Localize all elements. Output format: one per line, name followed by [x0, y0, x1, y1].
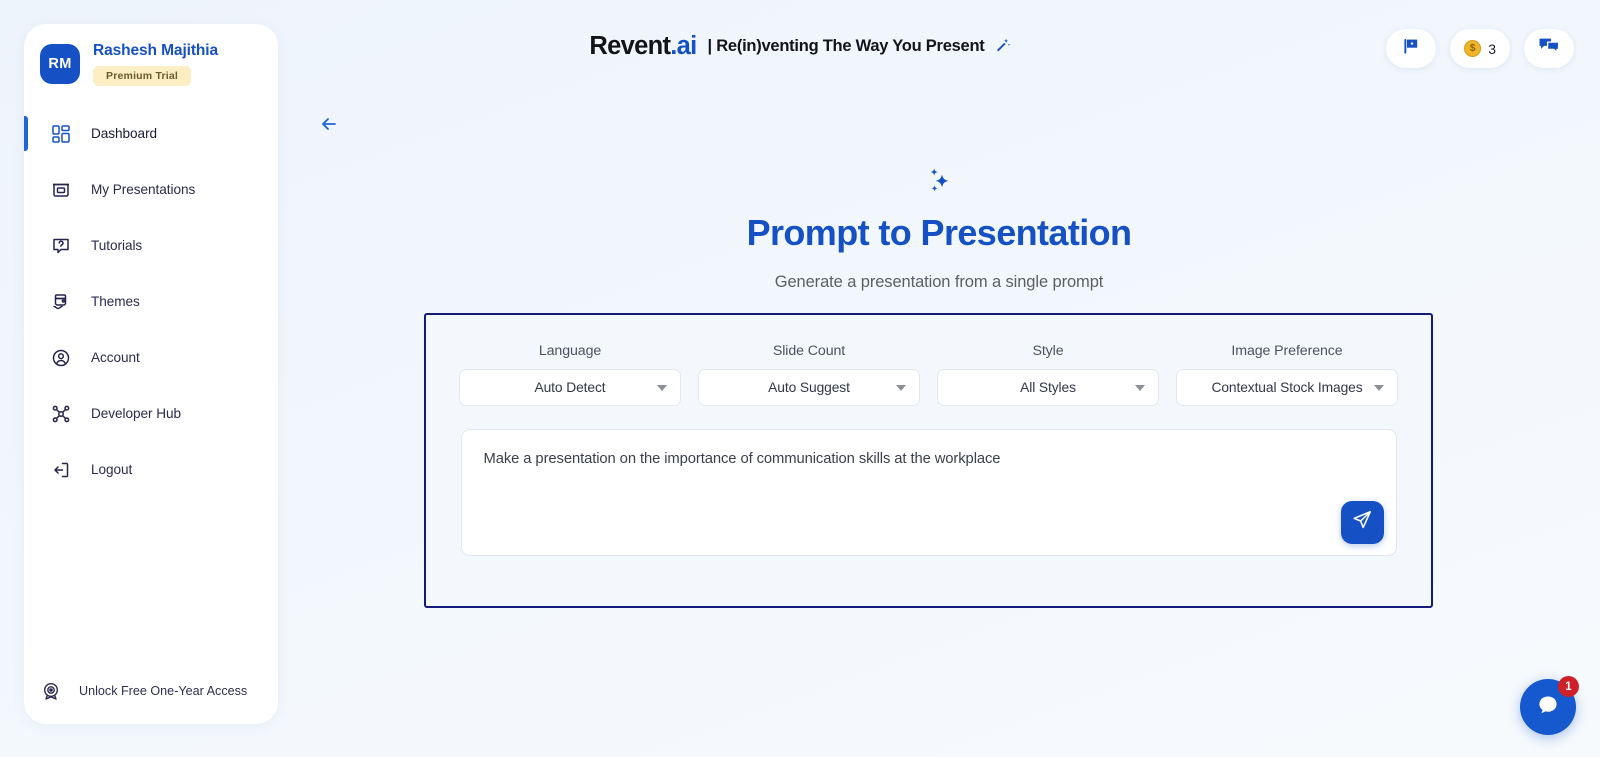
send-plane-icon [1351, 509, 1373, 536]
unlock-label: Unlock Free One-Year Access [79, 684, 247, 698]
credits-button[interactable]: $ 3 [1450, 29, 1510, 68]
prompt-card: Language Auto Detect Slide Count Auto Su… [424, 313, 1433, 608]
option-label: Language [459, 343, 681, 359]
page-title: Prompt to Presentation [278, 212, 1600, 254]
option-slide-count: Slide Count Auto Suggest [698, 343, 920, 406]
sidebar-item-label: Logout [91, 462, 132, 477]
chevron-down-icon [657, 385, 667, 391]
option-image-preference: Image Preference Contextual Stock Images [1176, 343, 1398, 406]
dashboard-icon [50, 123, 72, 145]
sidebar-item-tutorials[interactable]: Tutorials [24, 226, 278, 265]
option-label: Slide Count [698, 343, 920, 359]
avatar: RM [40, 44, 80, 84]
user-name: Rashesh Majithia [93, 42, 218, 60]
hero-section: Prompt to Presentation Generate a presen… [278, 160, 1600, 292]
flag-button[interactable] [1386, 29, 1436, 68]
sidebar-item-label: Account [91, 350, 140, 365]
sidebar-item-label: Themes [91, 294, 140, 309]
send-button[interactable] [1341, 501, 1384, 544]
page-subtitle: Generate a presentation from a single pr… [278, 273, 1600, 292]
sidebar-nav: Dashboard My Presentations [24, 114, 278, 489]
select-value: All Styles [1020, 380, 1076, 395]
nodes-icon [50, 403, 72, 425]
coin-icon: $ [1464, 40, 1481, 57]
sidebar-item-label: Dashboard [91, 126, 157, 141]
back-button[interactable] [313, 110, 345, 142]
sidebar-item-label: Tutorials [91, 238, 142, 253]
image-preference-select[interactable]: Contextual Stock Images [1176, 369, 1398, 406]
question-bubble-icon [50, 235, 72, 257]
sidebar-item-logout[interactable]: Logout [24, 450, 278, 489]
unlock-free-access-link[interactable]: Unlock Free One-Year Access [24, 680, 247, 702]
target-badge-icon [40, 680, 62, 702]
presentation-icon [50, 179, 72, 201]
sidebar-item-label: My Presentations [91, 182, 195, 197]
logo-suffix: .ai [670, 32, 696, 60]
sidebar-item-label: Developer Hub [91, 406, 181, 421]
paint-bucket-icon [50, 291, 72, 313]
top-actions: $ 3 [1386, 29, 1574, 68]
chat-bubbles-icon [1538, 36, 1560, 61]
chevron-down-icon [896, 385, 906, 391]
slide-count-select[interactable]: Auto Suggest [698, 369, 920, 406]
app-root: RM Rashesh Majithia Premium Trial Dashbo… [0, 0, 1600, 757]
option-style: Style All Styles [937, 343, 1159, 406]
sidebar-item-themes[interactable]: Themes [24, 282, 278, 321]
sidebar-item-developer-hub[interactable]: Developer Hub [24, 394, 278, 433]
sidebar-item-account[interactable]: Account [24, 338, 278, 377]
credits-count: 3 [1488, 41, 1496, 57]
sidebar-item-dashboard[interactable]: Dashboard [24, 114, 278, 153]
option-label: Image Preference [1176, 343, 1398, 359]
logo-main: Revent [589, 32, 670, 60]
language-select[interactable]: Auto Detect [459, 369, 681, 406]
chat-widget-button[interactable]: 1 [1520, 679, 1576, 735]
user-profile[interactable]: RM Rashesh Majithia Premium Trial [24, 24, 278, 86]
plan-badge: Premium Trial [93, 66, 191, 86]
feedback-chat-button[interactable] [1524, 29, 1574, 68]
options-row: Language Auto Detect Slide Count Auto Su… [426, 315, 1431, 406]
sparkle-icon [278, 160, 1600, 204]
option-language: Language Auto Detect [459, 343, 681, 406]
chevron-down-icon [1135, 385, 1145, 391]
flag-icon [1401, 36, 1421, 61]
sidebar-item-my-presentations[interactable]: My Presentations [24, 170, 278, 209]
style-select[interactable]: All Styles [937, 369, 1159, 406]
magic-wand-icon [994, 36, 1011, 58]
logout-icon [50, 459, 72, 481]
sidebar: RM Rashesh Majithia Premium Trial Dashbo… [24, 24, 278, 724]
chevron-down-icon [1374, 385, 1384, 391]
brand-tagline: | Re(in)venting The Way You Present [708, 37, 985, 56]
prompt-input-container[interactable]: Make a presentation on the importance of… [461, 429, 1397, 556]
user-circle-icon [50, 347, 72, 369]
option-label: Style [937, 343, 1159, 359]
select-value: Contextual Stock Images [1211, 380, 1362, 395]
select-value: Auto Detect [535, 380, 606, 395]
chat-bubble-icon [1533, 690, 1563, 725]
arrow-left-icon [318, 113, 340, 140]
app-logo: Revent.ai [589, 32, 696, 61]
prompt-input[interactable]: Make a presentation on the importance of… [462, 430, 1396, 489]
chat-unread-badge: 1 [1558, 676, 1579, 697]
profile-text: Rashesh Majithia Premium Trial [93, 42, 218, 86]
select-value: Auto Suggest [768, 380, 850, 395]
